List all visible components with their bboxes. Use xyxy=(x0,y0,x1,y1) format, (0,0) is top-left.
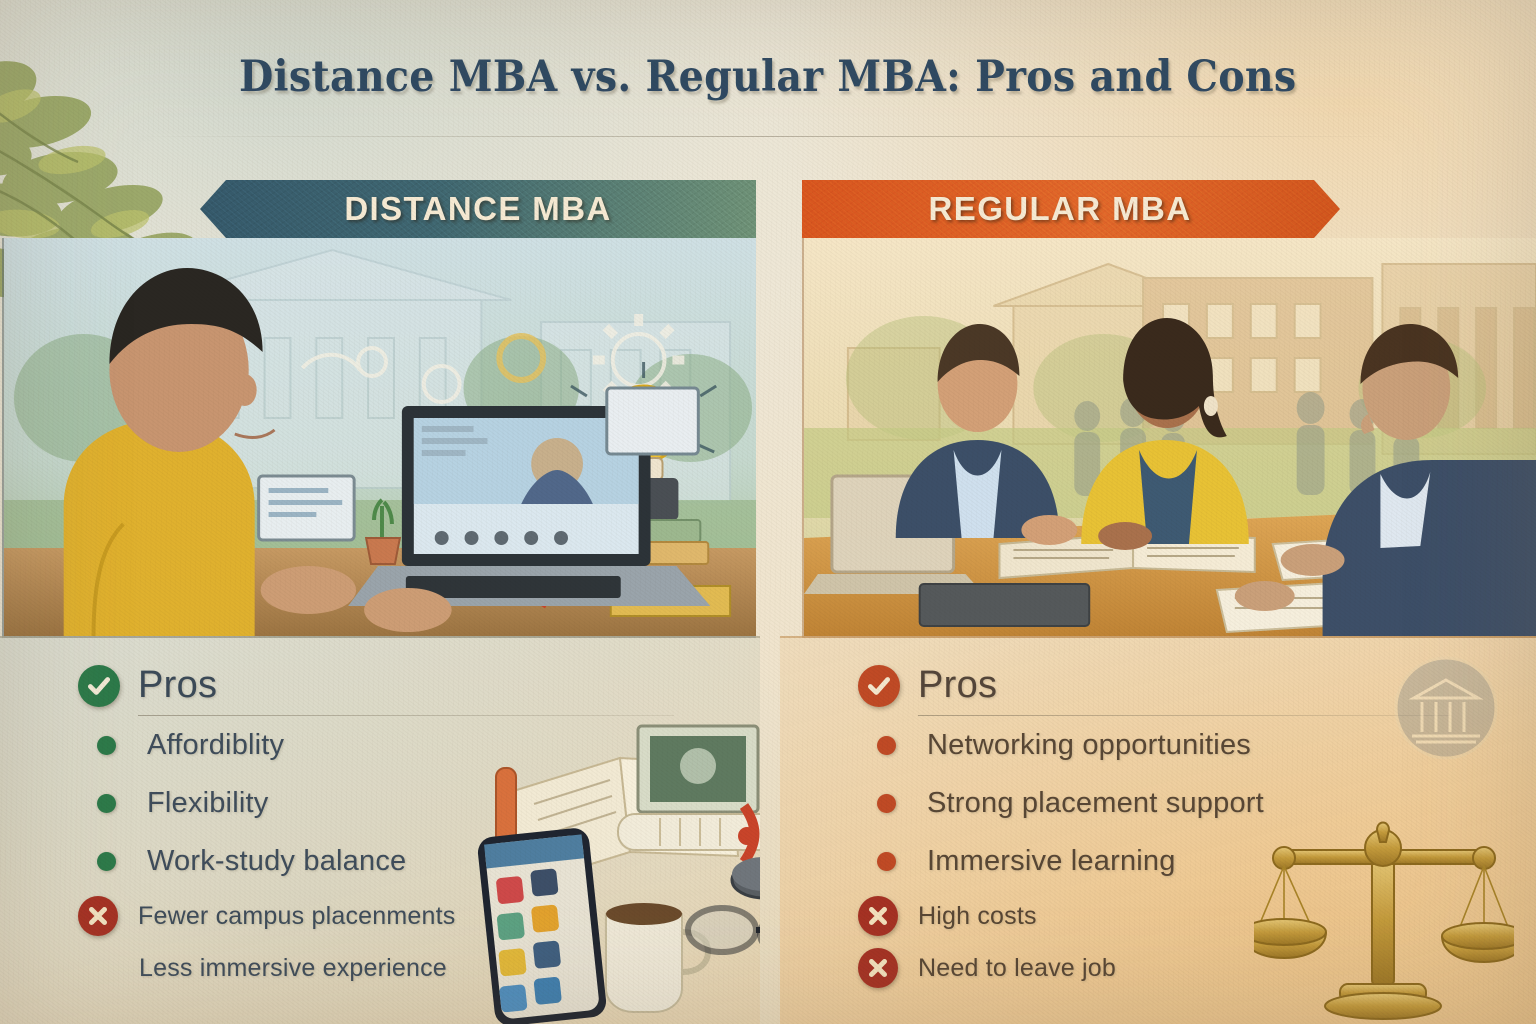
bullet-dot-icon xyxy=(97,852,116,871)
list-item: Less immersive experience xyxy=(0,942,760,994)
list-item: Flexibility xyxy=(0,774,760,832)
banner-regular-mba: REGULAR MBA xyxy=(780,180,1536,238)
x-glyph xyxy=(865,903,891,929)
x-glyph xyxy=(865,955,891,981)
column-regular-mba: REGULAR MBA xyxy=(780,152,1536,638)
x-circle-icon xyxy=(858,948,898,988)
banner-distance-mba: DISTANCE MBA xyxy=(0,180,756,238)
bullet-dot-icon xyxy=(877,736,896,755)
list-item: Networking opportunities xyxy=(780,716,1536,774)
title-divider xyxy=(130,136,1406,137)
list-item: High costs xyxy=(780,890,1536,942)
con-text: Need to leave job xyxy=(918,954,1116,983)
check-glyph xyxy=(86,673,112,699)
bullet-dot-icon xyxy=(97,736,116,755)
pros-header-distance: Pros xyxy=(0,664,760,707)
list-item: Work-study balance xyxy=(0,832,760,890)
list-block-distance: Pros Affordiblity Flexibility Work-study… xyxy=(0,636,760,1024)
page-title: Distance MBA vs. Regular MBA: Pros and C… xyxy=(239,52,1296,102)
banner-label-distance: DISTANCE MBA xyxy=(0,190,756,228)
pro-text: Flexibility xyxy=(147,787,268,820)
pro-text: Work-study balance xyxy=(147,845,406,878)
infographic-canvas: Distance MBA vs. Regular MBA: Pros and C… xyxy=(0,0,1536,1024)
list-item: Immersive learning xyxy=(780,832,1536,890)
pros-label: Pros xyxy=(918,664,997,707)
pro-text: Strong placement support xyxy=(927,787,1264,820)
list-item: Need to leave job xyxy=(780,942,1536,994)
list-item: Strong placement support xyxy=(780,774,1536,832)
x-circle-icon xyxy=(78,896,118,936)
pro-text: Networking opportunities xyxy=(927,729,1251,762)
x-circle-icon xyxy=(858,896,898,936)
photo-distance-learning-art xyxy=(4,238,756,636)
x-glyph xyxy=(85,903,111,929)
photo-campus-group-art xyxy=(804,238,1536,636)
page-title-container: Distance MBA vs. Regular MBA: Pros and C… xyxy=(0,52,1536,102)
photo-campus-group xyxy=(802,238,1536,638)
pro-text: Affordiblity xyxy=(147,729,284,762)
bullet-dot-icon xyxy=(877,794,896,813)
check-circle-icon xyxy=(78,665,120,707)
photo-distance-learning xyxy=(2,238,756,638)
list-block-regular: Pros Networking opportunities Strong pla… xyxy=(780,636,1536,1024)
con-text: Fewer campus placenments xyxy=(138,902,455,931)
column-distance-mba: DISTANCE MBA xyxy=(0,152,756,638)
list-item: Affordiblity xyxy=(0,716,760,774)
list-item: Fewer campus placenments xyxy=(0,890,760,942)
con-text: High costs xyxy=(918,902,1037,931)
icon-placeholder xyxy=(78,968,119,969)
banner-label-regular: REGULAR MBA xyxy=(780,190,1536,228)
con-text: Less immersive experience xyxy=(139,954,447,983)
pros-header-regular: Pros xyxy=(780,664,1536,707)
pro-text: Immersive learning xyxy=(927,845,1176,878)
check-circle-icon xyxy=(858,665,900,707)
pros-label: Pros xyxy=(138,664,217,707)
check-glyph xyxy=(866,673,892,699)
bullet-dot-icon xyxy=(877,852,896,871)
bullet-dot-icon xyxy=(97,794,116,813)
